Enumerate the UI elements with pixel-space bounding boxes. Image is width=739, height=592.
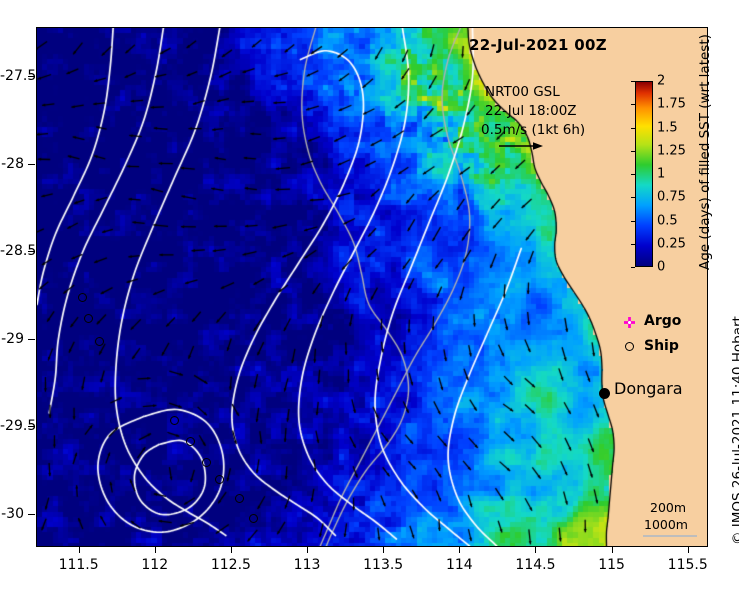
y-tick-label: -29.5: [0, 418, 24, 434]
colorbar-tick: [631, 81, 635, 82]
x-tick: [688, 546, 689, 553]
reference-vector-arrow-icon: [499, 140, 543, 152]
ship-circle-marker-icon: [186, 437, 195, 446]
argo-star-marker-icon: [624, 317, 635, 328]
x-tick: [79, 546, 80, 553]
y-tick-label: -27.5: [0, 68, 24, 84]
x-tick: [155, 546, 156, 553]
colorbar[interactable]: [635, 81, 653, 267]
x-tick-label: 113.5: [363, 557, 403, 573]
copyright-notice: © IMOS 26-Jul-2021 11:40 Hobart: [730, 316, 739, 545]
map-plot-area[interactable]: 22-Jul-2021 00Z NRT00 GSL 22-Jul 18:00Z …: [36, 27, 708, 547]
x-tick-label: 114.5: [515, 557, 555, 573]
colorbar-tick-label: 1.5: [657, 120, 678, 135]
x-tick-label: 113: [294, 557, 321, 573]
colorbar-tick: [631, 104, 635, 105]
legend-label-argo: Argo: [644, 313, 681, 329]
x-tick: [612, 546, 613, 553]
y-tick: [28, 514, 35, 515]
scale-bar-rule: [643, 535, 697, 537]
colorbar-tick: [631, 174, 635, 175]
dongara-location-dot: [599, 388, 610, 399]
colorbar-title: Age (days) of filled SST (wrt latest): [697, 34, 713, 270]
colorbar-tick-label: 1.25: [657, 143, 686, 158]
x-tick-label: 115: [598, 557, 625, 573]
ship-circle-marker-icon: [170, 416, 179, 425]
sst-age-map-canvas[interactable]: [37, 28, 707, 546]
velocity-scale-label: 0.5m/s (1kt 6h): [481, 122, 585, 138]
colorbar-tick: [631, 197, 635, 198]
ship-circle-marker-icon: [625, 342, 634, 351]
colorbar-tick: [631, 244, 635, 245]
x-tick: [231, 546, 232, 553]
colorbar-tick: [631, 151, 635, 152]
colorbar-tick-label: 0.5: [657, 213, 678, 228]
x-tick: [535, 546, 536, 553]
y-tick-label: -30: [0, 506, 24, 522]
y-tick: [28, 164, 35, 165]
colorbar-gradient: [636, 82, 652, 266]
scale-label-1000m: 1000m: [644, 517, 688, 532]
x-tick-label: 111.5: [59, 557, 99, 573]
ship-circle-marker-icon: [202, 458, 211, 467]
colorbar-tick: [631, 267, 635, 268]
colorbar-tick-label: 1.75: [657, 97, 686, 112]
colorbar-tick-label: 2: [657, 74, 665, 89]
colorbar-tick-label: 0.75: [657, 190, 686, 205]
y-tick-label: -28: [0, 156, 24, 172]
x-tick-label: 112.5: [211, 557, 251, 573]
scale-label-200m: 200m: [650, 500, 686, 515]
x-tick: [459, 546, 460, 553]
x-tick-label: 114: [446, 557, 473, 573]
place-label-dongara: Dongara: [614, 379, 683, 398]
colorbar-tick-label: 1: [657, 167, 665, 182]
x-tick-label: 112: [141, 557, 168, 573]
ship-circle-marker-icon: [95, 337, 104, 346]
ship-circle-marker-icon: [249, 514, 258, 523]
figure-root: 22-Jul-2021 00Z NRT00 GSL 22-Jul 18:00Z …: [0, 0, 739, 592]
y-tick: [28, 339, 35, 340]
gsl-product-label: NRT00 GSL: [485, 84, 560, 100]
colorbar-tick: [631, 128, 635, 129]
colorbar-tick: [631, 221, 635, 222]
date-title: 22-Jul-2021 00Z: [469, 36, 607, 54]
colorbar-tick-label: 0.25: [657, 236, 686, 251]
colorbar-tick-label: 0: [657, 260, 665, 275]
y-tick-label: -28.5: [0, 243, 24, 259]
x-tick-label: 115.5: [668, 557, 708, 573]
y-tick-label: -29: [0, 331, 24, 347]
x-tick: [307, 546, 308, 553]
gsl-timestamp-label: 22-Jul 18:00Z: [485, 103, 577, 119]
x-tick: [383, 546, 384, 553]
legend-label-ship: Ship: [644, 338, 679, 354]
